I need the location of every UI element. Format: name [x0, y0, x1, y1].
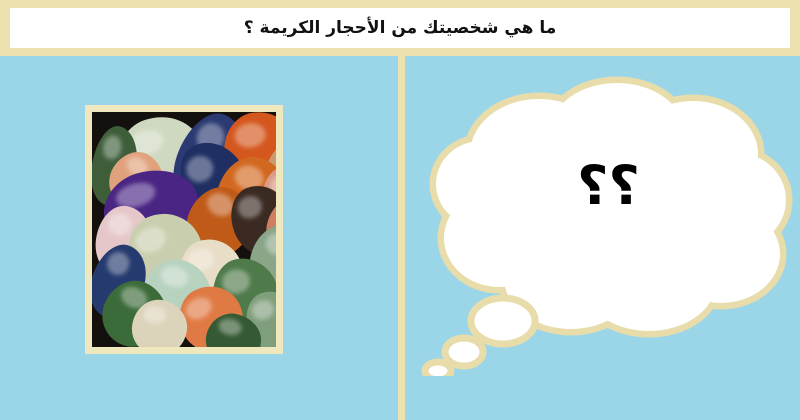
thought-trail — [425, 298, 535, 376]
header-title-box: ما هي شخصيتك من الأحجار الكريمة ؟ — [10, 8, 790, 48]
gemstone-photo-frame — [85, 105, 283, 354]
thought-bubble-shape — [421, 66, 796, 376]
vertical-divider — [398, 56, 405, 420]
left-panel — [0, 56, 398, 420]
quiz-slide: ما هي شخصيتك من الأحجار الكريمة ؟ — [0, 0, 800, 420]
gemstone-photo — [92, 112, 276, 347]
thought-bubble: ؟؟ — [421, 66, 796, 376]
page-title: ما هي شخصيتك من الأحجار الكريمة ؟ — [244, 18, 556, 38]
header-banner: ما هي شخصيتك من الأحجار الكريمة ؟ — [0, 0, 800, 56]
right-panel: ؟؟ — [405, 56, 800, 420]
